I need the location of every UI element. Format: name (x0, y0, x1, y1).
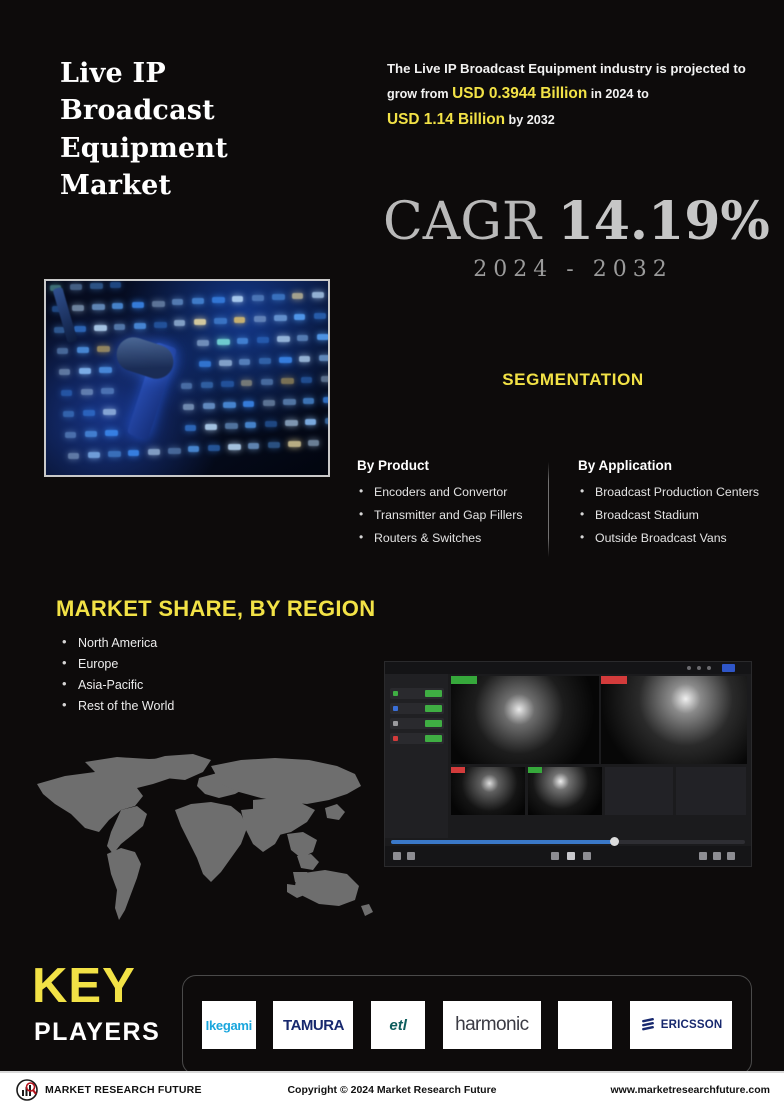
title-line-1: Live IP (60, 55, 390, 92)
intro-line-1: The Live IP Broadcast Equipment industry… (387, 61, 746, 76)
settings-icon[interactable] (727, 852, 735, 860)
console-key-lights (46, 281, 328, 475)
world-map (25, 748, 375, 928)
next-frame-icon[interactable] (583, 852, 591, 860)
infographic-page: Live IP Broadcast Equipment Market The L… (0, 0, 784, 1108)
logo-label: ERICSSON (661, 1019, 723, 1031)
edit-icon[interactable] (699, 852, 707, 860)
preview-tally-badge (451, 676, 477, 684)
empty-source-slot[interactable] (605, 767, 673, 815)
preview-monitor[interactable] (451, 676, 599, 764)
source-video-feed (528, 767, 602, 815)
list-item: Transmitter and Gap Fillers (357, 508, 537, 522)
titlebar-control-icon (687, 666, 691, 670)
program-tally-badge (601, 676, 627, 684)
timeline-progress (391, 840, 618, 844)
list-item: North America (58, 636, 174, 650)
segmentation-heading: SEGMENTATION (383, 370, 763, 390)
source-list-panel (385, 674, 448, 838)
cagr-headline: CAGR 14.19% (383, 196, 763, 248)
region-heading: MARKET SHARE, BY REGION (56, 596, 375, 622)
titlebar-action-button[interactable] (722, 664, 735, 672)
cagr-block: CAGR 14.19% 2024 - 2032 (383, 196, 763, 282)
logo-tamura: TAMURA (273, 1001, 353, 1049)
rewind-icon[interactable] (393, 852, 401, 860)
software-title-bar (385, 662, 751, 674)
cagr-label: CAGR (383, 192, 541, 252)
comment-icon[interactable] (407, 852, 415, 860)
empty-source-slot[interactable] (676, 767, 746, 815)
list-item[interactable] (390, 718, 444, 729)
prev-frame-icon[interactable] (551, 852, 559, 860)
footer-divider (0, 1071, 784, 1073)
key-players-logo-container: Ikegami TAMURA etl harmonic EVS ERICSSON (182, 975, 752, 1075)
market-value-2024: USD 0.3944 Billion (452, 85, 587, 102)
timeline-scrubber[interactable] (391, 840, 745, 844)
source-thumbnail[interactable] (528, 767, 602, 815)
logo-label: harmonic (455, 1014, 528, 1036)
logo-label: etl (389, 1017, 407, 1034)
logo-harmonic: harmonic (443, 1001, 541, 1049)
intro-line-3-suffix: by 2032 (505, 113, 555, 127)
list-item[interactable] (390, 688, 444, 699)
segmentation-product-list: Encoders and Convertor Transmitter and G… (357, 485, 537, 545)
footer-url[interactable]: www.marketresearchfuture.com (610, 1084, 770, 1096)
broadcast-console-image (44, 279, 330, 477)
source-thumbnail[interactable] (451, 767, 525, 815)
logo-ikegami: Ikegami (202, 1001, 256, 1049)
cagr-period: 2024 - 2032 (383, 257, 763, 282)
title-line-3: Market (60, 167, 390, 204)
list-item: Outside Broadcast Vans (578, 531, 768, 545)
timeline-playhead[interactable] (610, 837, 619, 846)
ericsson-mark-icon (640, 1017, 656, 1033)
segmentation-column-heading: By Application (578, 458, 768, 473)
program-video-feed (601, 676, 747, 764)
logo-label: Ikegami (206, 1018, 252, 1033)
list-item[interactable] (390, 733, 444, 744)
titlebar-control-icon (707, 666, 711, 670)
key-players-word-top: KEY (32, 962, 136, 1011)
list-item: Encoders and Convertor (357, 485, 537, 499)
title-line-2: Broadcast Equipment (60, 92, 390, 167)
titlebar-control-icon (697, 666, 701, 670)
market-value-2032: USD 1.14 Billion (387, 111, 505, 128)
cagr-value: 14.19% (558, 191, 770, 252)
key-players-word-bottom: PLAYERS (34, 1020, 160, 1045)
intro-line-2-middle: in 2024 to (587, 87, 649, 101)
list-item: Rest of the World (58, 699, 174, 713)
list-item: Broadcast Stadium (578, 508, 768, 522)
video-production-software-screenshot (384, 661, 752, 867)
transport-controls-bar (385, 846, 751, 866)
world-map-svg (25, 748, 375, 928)
source-tally-badge (528, 767, 542, 773)
intro-line-2-prefix: grow from (387, 87, 452, 101)
logo-ericsson: ERICSSON (630, 1001, 732, 1049)
intro-paragraph: The Live IP Broadcast Equipment industry… (387, 58, 752, 134)
list-item: Routers & Switches (357, 531, 537, 545)
segmentation-application-list: Broadcast Production Centers Broadcast S… (578, 485, 768, 545)
segmentation-column-heading: By Product (357, 458, 537, 473)
list-item: Asia-Pacific (58, 678, 174, 692)
play-icon[interactable] (567, 852, 575, 860)
segmentation-column-product: By Product Encoders and Convertor Transm… (357, 458, 537, 554)
preview-video-feed (451, 676, 599, 764)
footer: MARKET RESEARCH FUTURE Copyright © 2024 … (0, 1071, 784, 1108)
logo-evs: EVS (558, 1001, 612, 1049)
source-tally-badge (451, 767, 465, 773)
region-list: North America Europe Asia-Pacific Rest o… (58, 636, 174, 720)
logo-etl: etl (371, 1001, 425, 1049)
list-item: Europe (58, 657, 174, 671)
list-item: Broadcast Production Centers (578, 485, 768, 499)
list-item[interactable] (390, 703, 444, 714)
program-monitor[interactable] (601, 676, 747, 764)
logo-label: TAMURA (283, 1017, 344, 1034)
source-video-feed (451, 767, 525, 815)
logo-label: EVS (569, 1016, 601, 1034)
segmentation-column-application: By Application Broadcast Production Cent… (578, 458, 768, 554)
segmentation-divider (548, 462, 549, 557)
page-title: Live IP Broadcast Equipment Market (60, 55, 390, 204)
record-icon[interactable] (713, 852, 721, 860)
